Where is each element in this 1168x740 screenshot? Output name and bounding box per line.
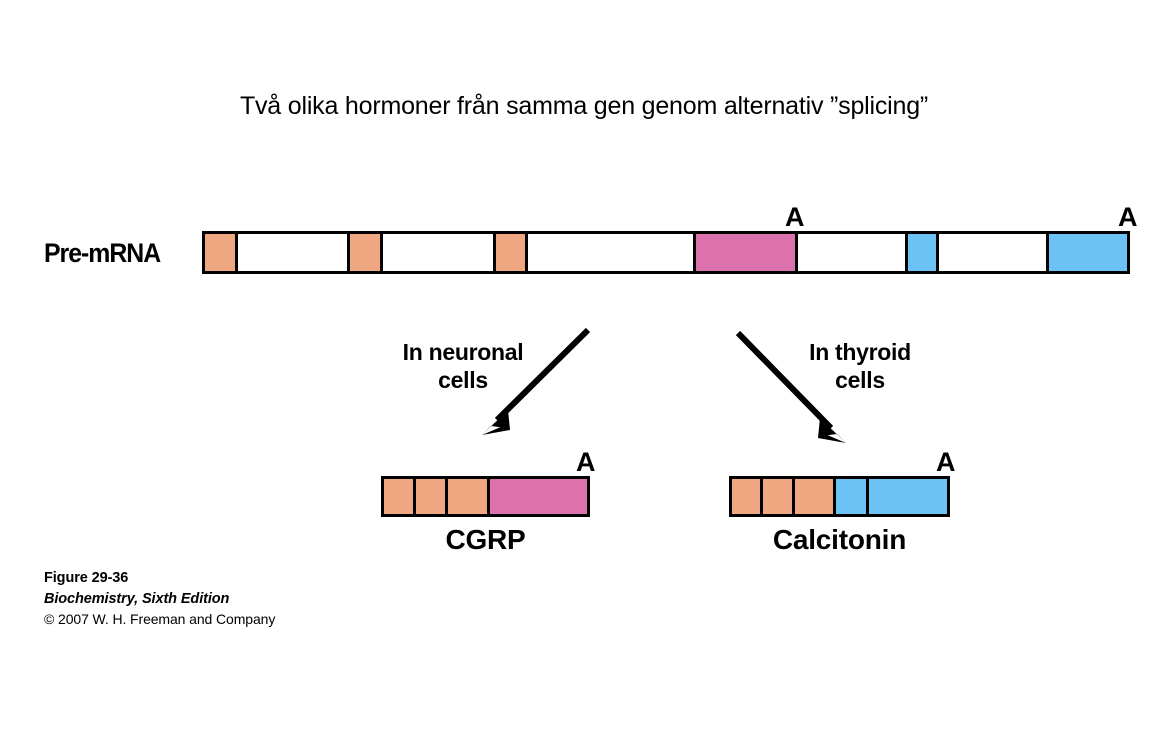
segment-intron-5: [936, 234, 1046, 271]
polya-marker-premrna-cgrp: A: [785, 204, 805, 231]
figure-number: Figure 29-36: [44, 568, 374, 589]
segment-exon-4-cgrp: [693, 234, 794, 271]
segment-exon-3: [445, 479, 488, 514]
product-label-calcitonin: Calcitonin: [709, 524, 970, 556]
product-label-cgrp: CGRP: [381, 524, 590, 556]
segment-exon-5-calcitonin: [833, 479, 866, 514]
segment-exon-6-calcitonin: [1046, 234, 1127, 271]
segment-exon-1: [205, 234, 235, 271]
polya-marker-premrna-calcitonin: A: [1118, 204, 1138, 231]
segment-intron-1: [235, 234, 347, 271]
segment-intron-4: [795, 234, 905, 271]
book-title: Biochemistry, Sixth Edition: [44, 589, 374, 610]
figure-credit: Figure 29-36 Biochemistry, Sixth Edition…: [44, 568, 374, 630]
segment-intron-3: [525, 234, 694, 271]
segment-intron-2: [380, 234, 493, 271]
segment-exon-1: [384, 479, 413, 514]
arrow-to-cgrp-icon: [470, 322, 600, 447]
copyright-notice: © 2007 W. H. Freeman and Company: [44, 609, 374, 630]
segment-exon-2: [760, 479, 791, 514]
segment-exon-3: [493, 234, 525, 271]
segment-exon-3: [792, 479, 833, 514]
arrow-to-calcitonin-icon: [728, 322, 858, 452]
polya-marker-cgrp: A: [576, 449, 596, 476]
calcitonin-mrna-bar: [729, 476, 950, 517]
page-title: Två olika hormoner från samma gen genom …: [0, 92, 1168, 121]
segment-exon-4-cgrp: [487, 479, 587, 514]
segment-exon-6-calcitonin: [866, 479, 947, 514]
segment-exon-2: [413, 479, 445, 514]
cgrp-mrna-bar: [381, 476, 590, 517]
pre-mrna-transcript-bar: [202, 231, 1130, 274]
segment-exon-2: [347, 234, 380, 271]
polya-marker-calcitonin: A: [936, 449, 956, 476]
pre-mrna-label: Pre-mRNA: [44, 238, 160, 269]
segment-exon-5-calcitonin: [905, 234, 936, 271]
segment-exon-1: [732, 479, 760, 514]
